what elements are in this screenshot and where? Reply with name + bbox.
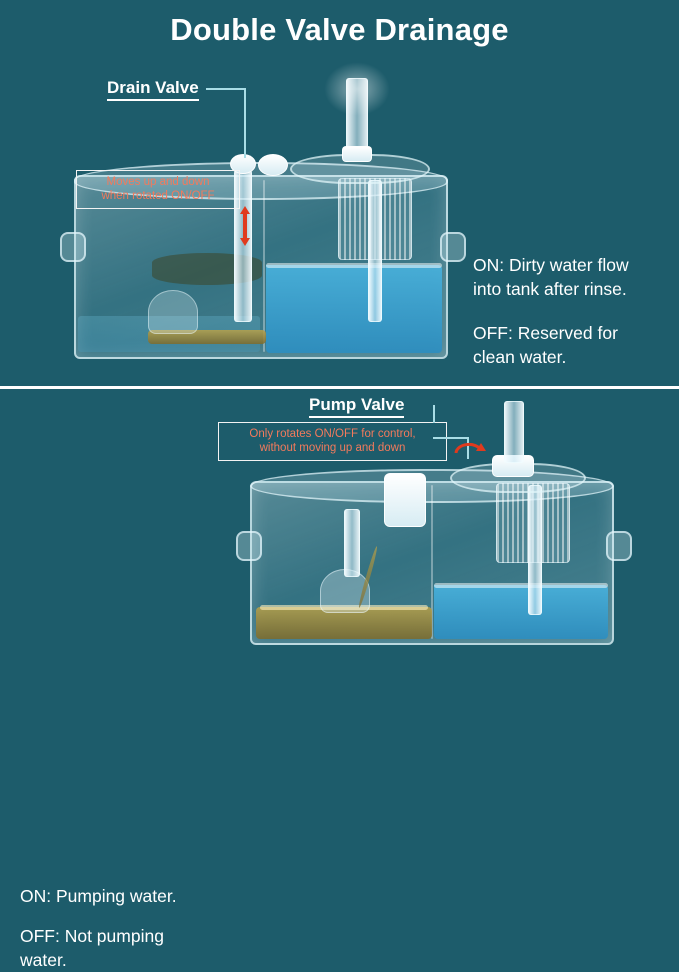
filter-core-tube [368,180,382,322]
top-text-on: ON: Dirty water flow into tank after rin… [473,254,678,301]
top-panel: Drain Valve Moves up and down when rotat… [0,60,679,386]
page-title: Double Valve Drainage [0,12,679,48]
rotate-arrow-icon [452,437,486,459]
bottom-text-on: ON: Pumping water. [20,885,230,909]
left-spout [236,531,262,561]
left-spout [60,232,86,262]
drain-valve-label-text: Drain Valve [107,78,199,97]
filter-core-tube [528,485,542,615]
right-spout [606,531,632,561]
bottom-panel: Pump Valve Only rotates ON/OFF for contr… [0,389,679,679]
callout-leader-horizontal [206,88,246,90]
top-text-off: OFF: Reserved for clean water. [473,322,678,369]
callout-leader-top [433,405,435,423]
water-right-chamber [266,265,442,353]
inlet-collar [342,146,372,162]
pump-valve-note: Only rotates ON/OFF for control, without… [218,422,447,461]
up-down-arrow-icon [240,206,250,246]
top-inlet-stem [504,401,524,463]
diagram-page: Double Valve Drainage [0,0,679,679]
water-surface-highlight [266,263,442,268]
pump-valve-label-text: Pump Valve [309,395,404,414]
bottom-device-illustration [236,449,636,674]
inner-divider [263,180,265,352]
bottom-text-off: OFF: Not pumping water. [20,925,230,972]
drain-valve-label: Drain Valve [107,78,199,101]
water-surface-highlight [434,583,608,588]
pump-valve-label: Pump Valve [309,395,404,418]
callout-leader-to-valve [244,138,246,158]
callout-leader-vertical [244,89,246,139]
steam-mist [324,62,390,116]
right-spout [440,232,466,262]
label-underline [309,416,404,418]
pump-tube [344,509,360,577]
pump-dome [148,290,198,334]
secondary-cap-knob [258,154,288,176]
drain-valve-note: Moves up and down when rotated ON/OFF [76,170,240,209]
pump-valve-body [384,473,426,527]
water-right-chamber [434,585,608,639]
label-underline [107,99,199,101]
